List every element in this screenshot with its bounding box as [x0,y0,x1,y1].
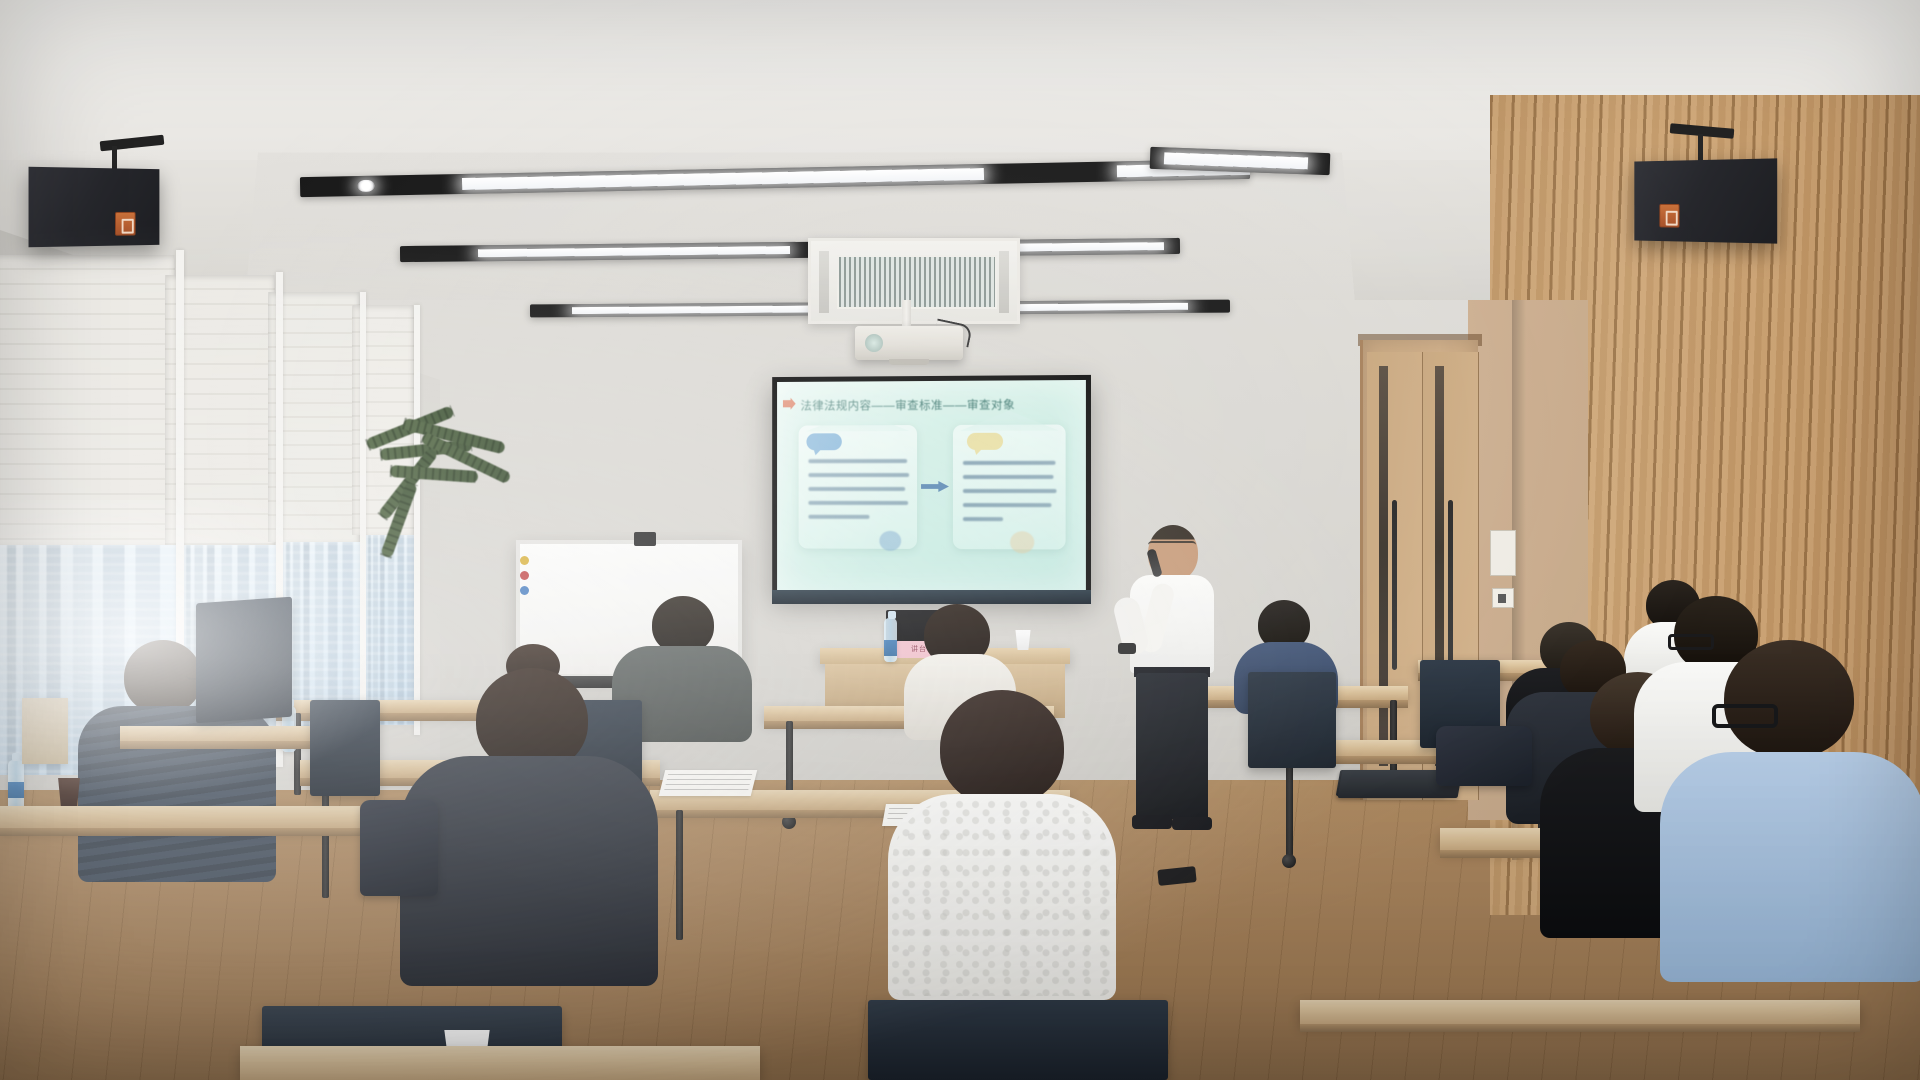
paper-shopping-bag [22,698,68,764]
ac-grille [837,255,997,309]
ceiling-projector [855,326,963,360]
lace-texture [892,800,1112,996]
presenter-speaker [1118,525,1238,825]
paper-handout [659,770,757,796]
chair[interactable] [1248,672,1336,768]
speaker-brand-badge [115,212,136,236]
slide-flow-arrow-icon [921,481,949,492]
door-handle-left[interactable] [1392,500,1397,670]
window-blind-1[interactable] [0,255,175,545]
laptop-bag [360,800,438,896]
slide-title: 法律法规内容——审查标准——审查对象 [801,396,1076,413]
slide-decoration-dot-left [879,531,901,551]
ceiling-speaker-right [1634,158,1777,243]
slide-card-left [799,425,917,549]
whiteboard-magnets [520,556,530,616]
ceiling-cassette-air-conditioner [808,238,1020,324]
projector-lens [865,334,883,352]
projected-slide: 法律法规内容——审查标准——审查对象 [777,380,1086,592]
door-handle-right[interactable] [1448,500,1453,670]
chair[interactable] [196,597,292,724]
glasses [1148,541,1196,550]
slide-title-arrow-icon [783,398,796,410]
attendee-white-lace-woman [888,690,1118,990]
projection-screen: 法律法规内容——审查标准——审查对象 [772,375,1091,597]
whiteboard-clip [634,532,656,546]
chair[interactable] [310,700,380,796]
slide-decoration-dot-right [1010,531,1034,553]
ceiling-speaker-left [29,167,160,248]
laptop-bag [1436,726,1532,786]
screen-bottom-rail [772,590,1091,604]
slide-card-roof [806,411,910,431]
light-switch[interactable] [1492,588,1514,608]
potted-palm-plant [360,382,520,632]
ac-vane-right [999,251,1009,313]
wall-room-sign [1490,530,1516,576]
ac-vane-left [819,251,829,313]
chair[interactable] [868,1000,1168,1080]
slide-card-right [953,424,1066,549]
glasses [1712,704,1778,728]
desk-foreground-left [240,1046,760,1080]
slide-left-bubble [806,433,841,450]
desk-foreground-right [1300,1000,1860,1024]
classroom-photo: 法律法规内容——审查标准——审查对象 [0,0,1920,1080]
speaker-brand-badge [1659,204,1679,228]
desk-window-left [0,806,360,828]
attendee-blue-shirt-glasses-man [1660,640,1920,970]
presentation-clicker-icon [1118,643,1136,654]
attendee-bun-woman [400,650,660,980]
slide-card-roof [960,410,1059,431]
water-bottle [884,618,897,662]
slide-right-bubble [967,433,1003,450]
